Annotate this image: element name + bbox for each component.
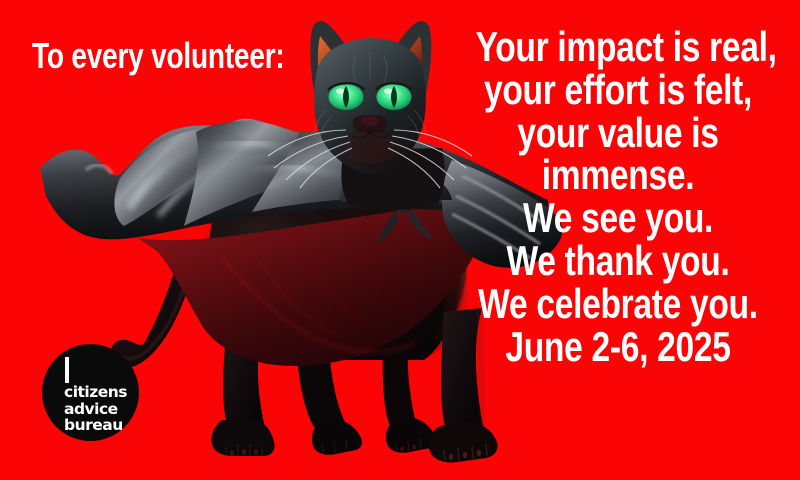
message-line-5: We see you. bbox=[476, 197, 761, 240]
logo-wordmark: citizens advice bureau bbox=[64, 384, 138, 434]
message-line-1: Your impact is real, bbox=[476, 26, 761, 69]
logo-bar-icon bbox=[65, 357, 69, 383]
message-line-2: your effort is felt, bbox=[476, 69, 761, 112]
message-line-7: We celebrate you. bbox=[476, 283, 761, 326]
poster-canvas: To every volunteer: Your impact is real,… bbox=[0, 0, 800, 480]
message-line-6: We thank you. bbox=[476, 240, 761, 283]
message-block: Your impact is real, your effort is felt… bbox=[440, 26, 796, 369]
message-line-4: immense. bbox=[476, 154, 761, 197]
headline-text: To every volunteer: bbox=[32, 38, 266, 74]
message-line-8: June 2-6, 2025 bbox=[476, 326, 761, 369]
logo-line-advice: advice bbox=[64, 401, 138, 418]
logo-line-citizens: citizens bbox=[64, 384, 138, 401]
logo-line-bureau: bureau bbox=[64, 417, 138, 434]
citizens-advice-bureau-logo: citizens advice bureau bbox=[42, 344, 139, 441]
message-line-3: your value is bbox=[476, 112, 761, 155]
